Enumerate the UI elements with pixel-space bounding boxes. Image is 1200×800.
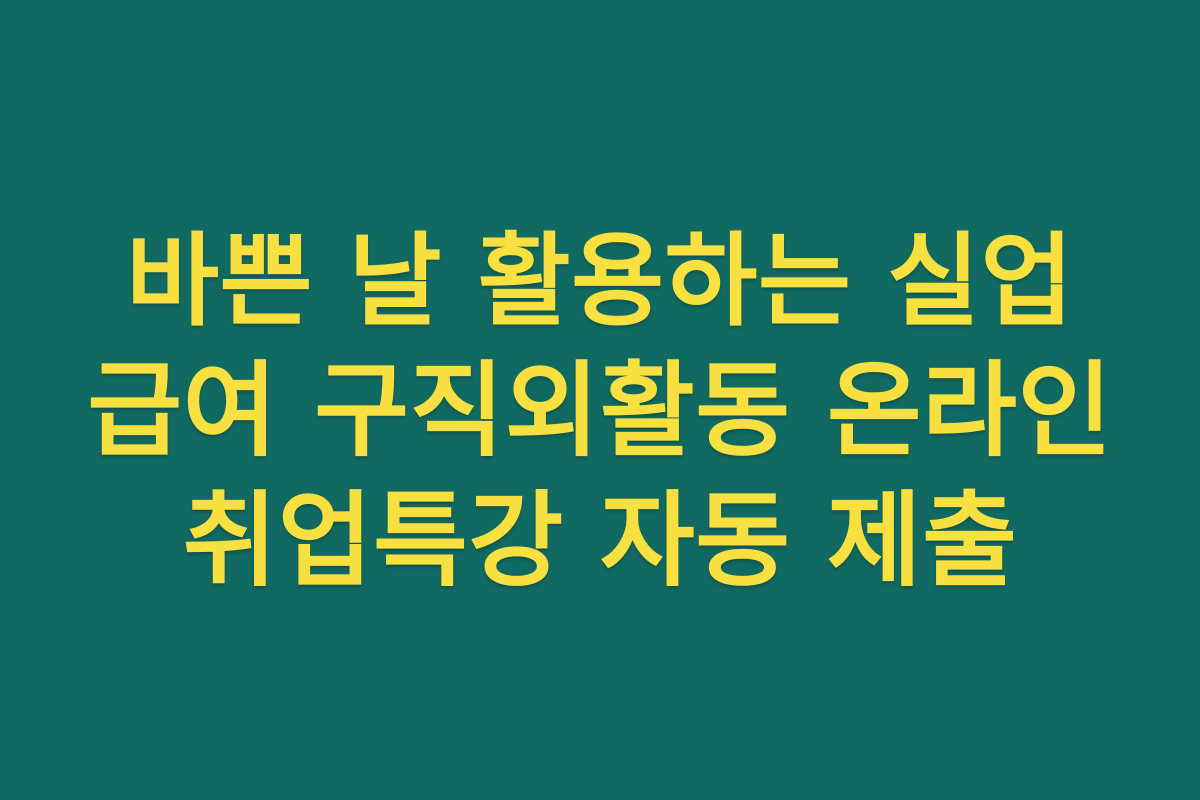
banner-title-line-3: 취업특강 자동 제출 xyxy=(35,476,1165,606)
banner-title-line-2: 급여 구직외활동 온라인 xyxy=(35,346,1165,476)
banner-title-block: 바쁜 날 활용하는 실업 급여 구직외활동 온라인 취업특강 자동 제출 xyxy=(35,194,1165,606)
banner-title-line-1: 바쁜 날 활용하는 실업 xyxy=(35,216,1165,346)
text-banner: 바쁜 날 활용하는 실업 급여 구직외활동 온라인 취업특강 자동 제출 xyxy=(0,0,1200,800)
